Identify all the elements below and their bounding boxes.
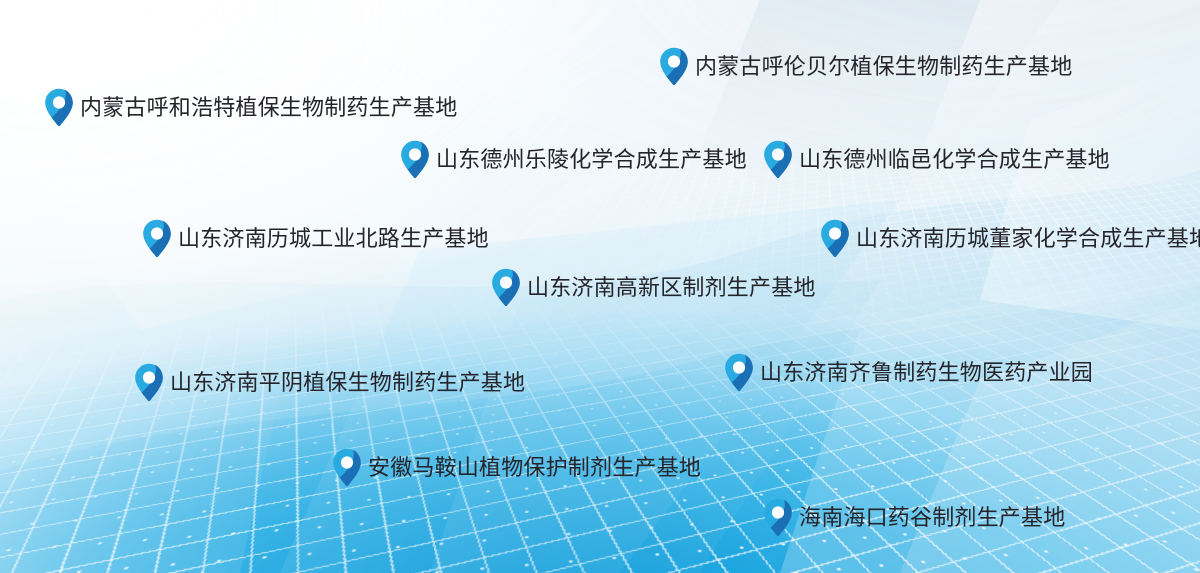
map-pin-icon xyxy=(491,268,521,307)
map-marker-label: 山东德州乐陵化学合成生产基地 xyxy=(436,149,747,171)
map-marker-label: 山东德州临邑化学合成生产基地 xyxy=(799,149,1110,171)
map-marker-jinan-qilu[interactable]: 山东济南齐鲁制药生物医药产业园 xyxy=(724,353,1093,392)
map-marker-label: 山东济南齐鲁制药生物医药产业园 xyxy=(760,362,1093,384)
map-marker-hulunbuir[interactable]: 内蒙古呼伦贝尔植保生物制药生产基地 xyxy=(659,47,1072,86)
map-marker-label: 海南海口药谷制剂生产基地 xyxy=(799,507,1065,529)
map-marker-hohhot[interactable]: 内蒙古呼和浩特植保生物制药生产基地 xyxy=(44,88,457,127)
map-marker-label: 山东济南高新区制剂生产基地 xyxy=(527,277,816,299)
map-marker-jinan-licheng-gongyebeilu[interactable]: 山东济南历城工业北路生产基地 xyxy=(142,219,489,258)
map-marker-label: 安徽马鞍山植物保护制剂生产基地 xyxy=(368,457,701,479)
map-pin-icon xyxy=(332,448,362,487)
map-marker-dezhou-leling[interactable]: 山东德州乐陵化学合成生产基地 xyxy=(400,140,747,179)
map-marker-label: 山东济南历城董家化学合成生产基地 xyxy=(856,228,1200,250)
map-marker-label: 内蒙古呼伦贝尔植保生物制药生产基地 xyxy=(695,56,1072,78)
map-pin-icon xyxy=(400,140,430,179)
map-pin-icon xyxy=(134,363,164,402)
map-marker-label: 内蒙古呼和浩特植保生物制药生产基地 xyxy=(80,97,457,119)
map-pin-icon xyxy=(763,140,793,179)
map-pin-icon xyxy=(142,219,172,258)
base-distribution-map: 内蒙古呼伦贝尔植保生物制药生产基地 内蒙古呼和浩特植保生物制药生产基地 山东德州… xyxy=(0,0,1200,573)
map-pin-icon xyxy=(659,47,689,86)
map-pin-icon xyxy=(763,498,793,537)
map-pin-icon xyxy=(820,219,850,258)
map-pin-icon xyxy=(724,353,754,392)
map-marker-jinan-licheng-dongjia[interactable]: 山东济南历城董家化学合成生产基地 xyxy=(820,219,1200,258)
map-marker-jinan-pingyin[interactable]: 山东济南平阴植保生物制药生产基地 xyxy=(134,363,525,402)
map-marker-label: 山东济南历城工业北路生产基地 xyxy=(178,228,489,250)
map-marker-hainan-haikou[interactable]: 海南海口药谷制剂生产基地 xyxy=(763,498,1065,537)
map-marker-anhui-maanshan[interactable]: 安徽马鞍山植物保护制剂生产基地 xyxy=(332,448,701,487)
map-marker-jinan-gaoxinqu[interactable]: 山东济南高新区制剂生产基地 xyxy=(491,268,816,307)
map-marker-label: 山东济南平阴植保生物制药生产基地 xyxy=(170,372,525,394)
map-marker-dezhou-linyi[interactable]: 山东德州临邑化学合成生产基地 xyxy=(763,140,1110,179)
map-pin-icon xyxy=(44,88,74,127)
